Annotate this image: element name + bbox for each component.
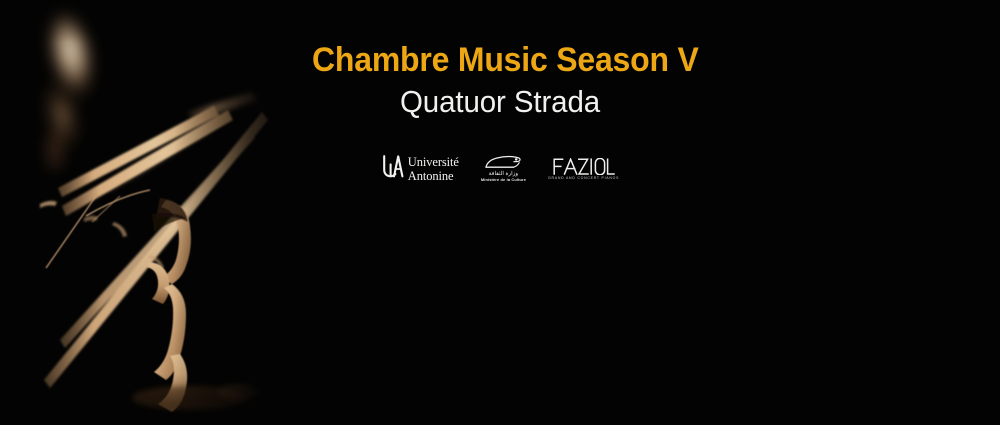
ua-monogram-icon [381, 154, 404, 184]
banner-title: Chambre Music Season V [312, 40, 688, 80]
logo-universite-antonine: Université Antonine [381, 154, 459, 184]
ua-wordmark: Université Antonine [408, 156, 459, 182]
ua-line-2: Antonine [408, 170, 459, 183]
sponsor-logo-row: Université Antonine وزارة الثقافة Minist… [300, 148, 700, 190]
ua-line-1: Université [408, 156, 459, 169]
logo-fazioli: GRAND AND CONCERT PIANOS [548, 158, 619, 181]
banner-subtitle: Quatuor Strada [310, 83, 690, 121]
banner-content: Chambre Music Season V Quatuor Strada Un… [300, 0, 700, 425]
concert-banner: Chambre Music Season V Quatuor Strada Un… [0, 0, 1000, 425]
logo-ministere-de-la-culture: وزارة الثقافة Ministère de la Culture [481, 155, 526, 182]
fazioli-wordmark-icon [553, 158, 615, 175]
fazioli-tagline: GRAND AND CONCERT PIANOS [548, 176, 619, 181]
violin-photograph [0, 0, 300, 425]
violin-photo-artwork [0, 0, 300, 425]
ministry-french-name: Ministère de la Culture [481, 178, 526, 182]
grand-piano-icon [483, 155, 523, 170]
